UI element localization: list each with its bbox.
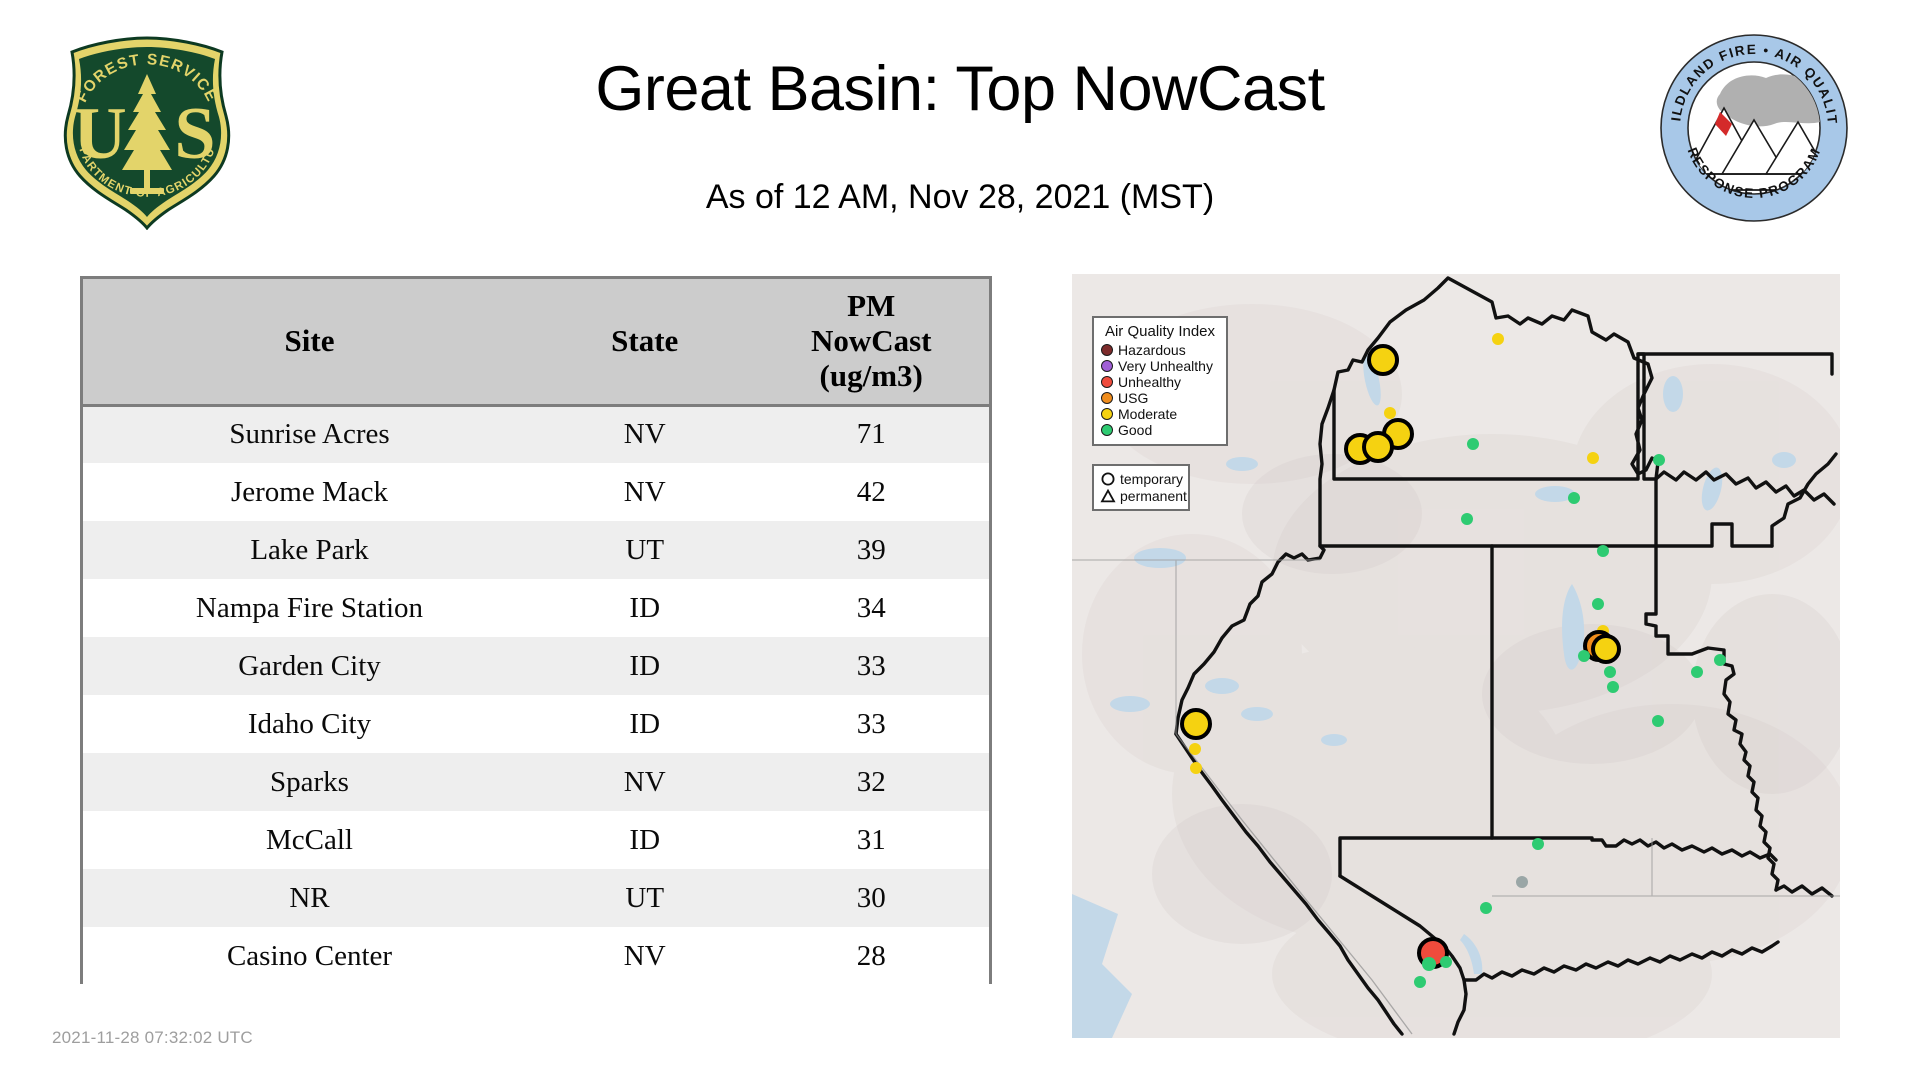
pm-value-cell: 42: [753, 463, 989, 521]
site-cell: NR: [83, 869, 536, 927]
table-row[interactable]: Idaho CityID33: [83, 695, 989, 753]
aqi-legend-title: Air Quality Index: [1101, 323, 1219, 340]
site-cell: Sunrise Acres: [83, 405, 536, 463]
map-marker-nr[interactable]: [1593, 636, 1619, 662]
pm-value-cell: 39: [753, 521, 989, 579]
table-row[interactable]: McCallID31: [83, 811, 989, 869]
pm-value-cell: 33: [753, 695, 989, 753]
table-row[interactable]: Sunrise AcresNV71: [83, 405, 989, 463]
aqi-legend-rows: HazardousVery UnhealthyUnhealthyUSGModer…: [1101, 342, 1219, 438]
aqi-legend-row: Good: [1101, 422, 1219, 438]
pm-header-line-1: PM: [759, 289, 983, 324]
site-cell: Garden City: [83, 637, 536, 695]
site-cell: Jerome Mack: [83, 463, 536, 521]
air-quality-map[interactable]: Air Quality Index HazardousVery Unhealth…: [1072, 274, 1840, 1038]
map-marker-mccall[interactable]: [1369, 346, 1397, 374]
aqi-swatch-icon: [1101, 392, 1113, 404]
map-marker-site-n4[interactable]: [1587, 452, 1599, 464]
site-cell: Lake Park: [83, 521, 536, 579]
state-cell: UT: [536, 869, 753, 927]
aqi-legend-row: Hazardous: [1101, 342, 1219, 358]
nowcast-table-container: Site State PM NowCast (ug/m3) Sunrise Ac…: [80, 276, 992, 984]
map-marker-site-n22[interactable]: [1414, 976, 1426, 988]
table-row[interactable]: Garden CityID33: [83, 637, 989, 695]
page-title: Great Basin: Top NowCast: [300, 56, 1620, 122]
slide-root: FOREST SERVICE U S DEPARTMENT OF AGRICUL…: [0, 0, 1920, 1080]
state-cell: NV: [536, 927, 753, 985]
table-body: Sunrise AcresNV71Jerome MackNV42Lake Par…: [83, 405, 989, 985]
aqi-legend-label: USG: [1118, 390, 1148, 406]
usfs-letter-u: U: [73, 93, 126, 175]
aqi-legend-row: USG: [1101, 390, 1219, 406]
nowcast-table: Site State PM NowCast (ug/m3) Sunrise Ac…: [83, 279, 989, 985]
state-cell: NV: [536, 753, 753, 811]
column-header-state[interactable]: State: [536, 279, 753, 405]
legend-row-permanent: permanent: [1100, 487, 1182, 504]
map-marker-site-n11[interactable]: [1578, 650, 1590, 662]
aqi-swatch-icon: [1101, 424, 1113, 436]
aqi-swatch-icon: [1101, 344, 1113, 356]
pm-value-cell: 30: [753, 869, 989, 927]
map-marker-nampa-fire-station[interactable]: [1364, 433, 1392, 461]
map-marker-site-n5[interactable]: [1653, 454, 1665, 466]
aqi-legend-label: Very Unhealthy: [1118, 358, 1213, 374]
map-marker-site-n20[interactable]: [1516, 876, 1528, 888]
site-cell: Sparks: [83, 753, 536, 811]
state-cell: ID: [536, 811, 753, 869]
column-header-pm-nowcast[interactable]: PM NowCast (ug/m3): [753, 279, 989, 405]
triangle-icon: [1100, 488, 1116, 504]
table-row[interactable]: Lake ParkUT39: [83, 521, 989, 579]
aqi-legend-row: Moderate: [1101, 406, 1219, 422]
table-row[interactable]: Jerome MackNV42: [83, 463, 989, 521]
state-cell: ID: [536, 695, 753, 753]
table-row[interactable]: SparksNV32: [83, 753, 989, 811]
column-header-site[interactable]: Site: [83, 279, 536, 405]
usfs-forest-service-logo: FOREST SERVICE U S DEPARTMENT OF AGRICUL…: [52, 30, 242, 230]
aqi-legend-row: Unhealthy: [1101, 374, 1219, 390]
pm-header-line-3: (ug/m3): [759, 359, 983, 394]
pm-header-line-2: NowCast: [759, 324, 983, 359]
map-marker-sparks[interactable]: [1182, 710, 1210, 738]
aqi-legend-label: Hazardous: [1118, 342, 1186, 358]
legend-row-temporary: temporary: [1100, 470, 1182, 487]
map-marker-site-n19[interactable]: [1532, 838, 1544, 850]
wfaqrp-program-logo: WILDLAND FIRE • AIR QUALITY RESPONSE PRO…: [1658, 32, 1850, 224]
map-marker-site-n17[interactable]: [1189, 743, 1201, 755]
state-cell: UT: [536, 521, 753, 579]
table-header-row: Site State PM NowCast (ug/m3): [83, 279, 989, 405]
map-marker-site-n21[interactable]: [1480, 902, 1492, 914]
legend-label-permanent: permanent: [1120, 488, 1187, 504]
map-marker-site-n6[interactable]: [1461, 513, 1473, 525]
aqi-legend-label: Moderate: [1118, 406, 1177, 422]
map-marker-site-n16[interactable]: [1652, 715, 1664, 727]
table-row[interactable]: Nampa Fire StationID34: [83, 579, 989, 637]
map-marker-site-n7[interactable]: [1568, 492, 1580, 504]
aqi-legend-row: Very Unhealthy: [1101, 358, 1219, 374]
page-subtitle: As of 12 AM, Nov 28, 2021 (MST): [300, 178, 1620, 217]
site-cell: McCall: [83, 811, 536, 869]
map-marker-site-n18[interactable]: [1190, 762, 1202, 774]
pm-value-cell: 33: [753, 637, 989, 695]
state-cell: ID: [536, 637, 753, 695]
map-marker-site-n9[interactable]: [1592, 598, 1604, 610]
map-marker-site-n8[interactable]: [1597, 545, 1609, 557]
map-marker-jerome-mack[interactable]: [1422, 957, 1436, 971]
aqi-legend-label: Unhealthy: [1118, 374, 1181, 390]
site-cell: Casino Center: [83, 927, 536, 985]
state-cell: NV: [536, 405, 753, 463]
map-marker-site-n14[interactable]: [1691, 666, 1703, 678]
map-marker-casino-center[interactable]: [1440, 956, 1452, 968]
table-header: Site State PM NowCast (ug/m3): [83, 279, 989, 405]
map-marker-site-n13[interactable]: [1607, 681, 1619, 693]
map-marker-site-n15[interactable]: [1714, 654, 1726, 666]
map-marker-site-n12[interactable]: [1604, 666, 1616, 678]
aqi-swatch-icon: [1101, 376, 1113, 388]
state-cell: NV: [536, 463, 753, 521]
pm-value-cell: 34: [753, 579, 989, 637]
pm-value-cell: 32: [753, 753, 989, 811]
footer-timestamp: 2021-11-28 07:32:02 UTC: [52, 1028, 253, 1048]
map-marker-site-n2[interactable]: [1384, 407, 1396, 419]
aqi-legend-label: Good: [1118, 422, 1152, 438]
aqi-swatch-icon: [1101, 408, 1113, 420]
table-row[interactable]: Casino CenterNV28: [83, 927, 989, 985]
pm-value-cell: 31: [753, 811, 989, 869]
pm-value-cell: 28: [753, 927, 989, 985]
table-row[interactable]: NRUT30: [83, 869, 989, 927]
state-cell: ID: [536, 579, 753, 637]
site-cell: Nampa Fire Station: [83, 579, 536, 637]
map-marker-site-n3[interactable]: [1467, 438, 1479, 450]
legend-label-temporary: temporary: [1120, 471, 1183, 487]
site-type-legend: temporary permanent: [1092, 464, 1190, 511]
pm-value-cell: 71: [753, 405, 989, 463]
aqi-swatch-icon: [1101, 360, 1113, 372]
circle-icon: [1100, 471, 1116, 487]
aqi-legend: Air Quality Index HazardousVery Unhealth…: [1092, 316, 1228, 446]
site-cell: Idaho City: [83, 695, 536, 753]
map-marker-site-n1[interactable]: [1492, 333, 1504, 345]
